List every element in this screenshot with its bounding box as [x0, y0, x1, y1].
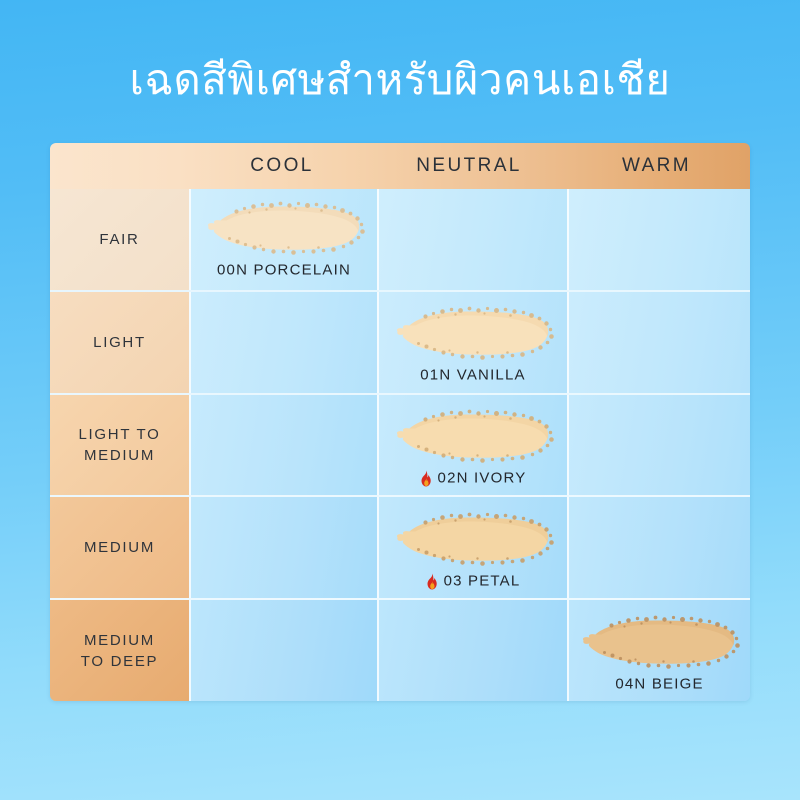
- table-header-corner: [50, 143, 189, 189]
- swatch-smear-icon: [389, 506, 557, 568]
- shade-name: 00N PORCELAIN: [217, 262, 351, 279]
- flame-icon: [426, 574, 439, 590]
- column-header-warm: WARM: [563, 143, 750, 189]
- row-label-medium-to-deep: MEDIUM TO DEEP: [50, 600, 189, 701]
- shade-label: 00N PORCELAIN: [217, 262, 351, 279]
- cell-light-to-medium-neutral[interactable]: 02N IVORY: [377, 395, 567, 496]
- table-body: FAIR: [50, 189, 750, 701]
- cell-fair-cool[interactable]: 00N PORCELAIN: [189, 189, 377, 290]
- shade-name: 01N VANILLA: [420, 367, 525, 384]
- cell-light-to-medium-warm[interactable]: [567, 395, 750, 496]
- shade-label: 01N VANILLA: [420, 367, 525, 384]
- swatch-smear-icon: [389, 403, 557, 465]
- cell-medium-neutral[interactable]: 03 PETAL: [377, 497, 567, 598]
- table-header-row: COOL NEUTRAL WARM: [50, 143, 750, 189]
- page-title: เฉดสีพิเศษสำหรับผิวคนเอเชีย: [0, 52, 800, 108]
- cell-medium-to-deep-cool[interactable]: [189, 600, 377, 701]
- swatch-smear-icon: [576, 609, 744, 671]
- swatch-smear-icon: [200, 196, 368, 258]
- table-row: LIGHT: [50, 290, 750, 393]
- shade-swatch-01n-vanilla[interactable]: 01N VANILLA: [386, 301, 561, 384]
- table-row: FAIR: [50, 189, 750, 290]
- cell-medium-cool[interactable]: [189, 497, 377, 598]
- shade-label: 03 PETAL: [426, 572, 521, 589]
- row-label-light: LIGHT: [50, 292, 189, 393]
- shade-matcher-table: COOL NEUTRAL WARM FAIR: [50, 143, 750, 701]
- cell-fair-warm[interactable]: [567, 189, 750, 290]
- cell-medium-to-deep-neutral[interactable]: [377, 600, 567, 701]
- flame-icon: [420, 471, 433, 487]
- shade-name: 04N BEIGE: [615, 675, 703, 692]
- shade-swatch-03-petal[interactable]: 03 PETAL: [386, 506, 561, 589]
- cell-light-neutral[interactable]: 01N VANILLA: [377, 292, 567, 393]
- shade-label: 02N IVORY: [420, 469, 527, 486]
- cell-medium-to-deep-warm[interactable]: 04N BEIGE: [567, 600, 750, 701]
- cell-medium-warm[interactable]: [567, 497, 750, 598]
- shade-name: 03 PETAL: [444, 572, 521, 589]
- row-label-medium: MEDIUM: [50, 497, 189, 598]
- row-label-light-to-medium: LIGHT TO MEDIUM: [50, 395, 189, 496]
- cell-light-to-medium-cool[interactable]: [189, 395, 377, 496]
- cell-light-cool[interactable]: [189, 292, 377, 393]
- swatch-smear-icon: [389, 301, 557, 363]
- column-header-cool: COOL: [189, 143, 375, 189]
- cell-fair-neutral[interactable]: [377, 189, 567, 290]
- shade-swatch-00n-porcelain[interactable]: 00N PORCELAIN: [197, 196, 372, 279]
- row-label-fair: FAIR: [50, 189, 189, 290]
- table-row: LIGHT TO MEDIUM: [50, 393, 750, 496]
- shade-name: 02N IVORY: [438, 469, 527, 486]
- cell-light-warm[interactable]: [567, 292, 750, 393]
- table-row: MEDIUM TO DEEP: [50, 598, 750, 701]
- column-header-neutral: NEUTRAL: [375, 143, 563, 189]
- shade-label: 04N BEIGE: [615, 675, 703, 692]
- shade-swatch-02n-ivory[interactable]: 02N IVORY: [386, 403, 561, 486]
- shade-swatch-04n-beige[interactable]: 04N BEIGE: [572, 609, 747, 692]
- table-row: MEDIUM: [50, 495, 750, 598]
